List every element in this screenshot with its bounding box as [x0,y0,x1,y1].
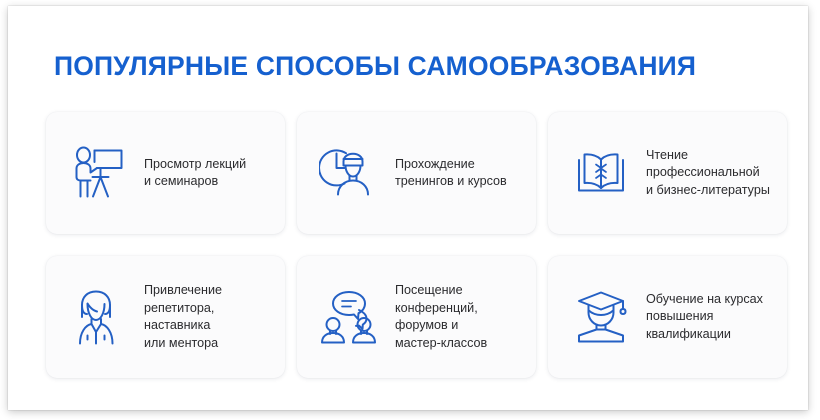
graduate-cap-person-icon [564,280,638,354]
infographic-page: ПОПУЛЯРНЫЕ СПОСОБЫ САМООБРАЗОВАНИЯ Просм… [8,6,808,410]
card-conferences-forums[interactable]: Посещение конференций, форумов и мастер-… [297,256,536,378]
card-label: Посещение конференций, форумов и мастер-… [387,282,526,352]
card-professional-reading[interactable]: Чтение профессиональной и бизнес-литерат… [548,112,787,234]
open-book-icon [564,136,638,210]
card-lectures-seminars[interactable]: Просмотр лекций и семинаров [46,112,285,234]
card-label: Чтение профессиональной и бизнес-литерат… [638,147,777,200]
card-label: Просмотр лекций и семинаров [136,156,275,191]
page-title: ПОПУЛЯРНЫЕ СПОСОБЫ САМООБРАЗОВАНИЯ [54,51,696,82]
card-label: Прохождение тренингов и курсов [387,156,526,191]
card-label: Привлечение репетитора, наставника или м… [136,282,275,352]
clock-with-person-icon [313,136,387,210]
card-trainings-courses[interactable]: Прохождение тренингов и курсов [297,112,536,234]
methods-card-grid: Просмотр лекций и семинаров Прохож [46,112,786,378]
card-qualification-courses[interactable]: Обучение на курсах повышения квалификаци… [548,256,787,378]
card-label: Обучение на курсах повышения квалификаци… [638,291,777,344]
two-people-speech-bubbles-icon [313,280,387,354]
card-tutor-mentor[interactable]: Привлечение репетитора, наставника или м… [46,256,285,378]
presenter-at-flipchart-icon [62,136,136,210]
woman-tutor-icon [62,280,136,354]
